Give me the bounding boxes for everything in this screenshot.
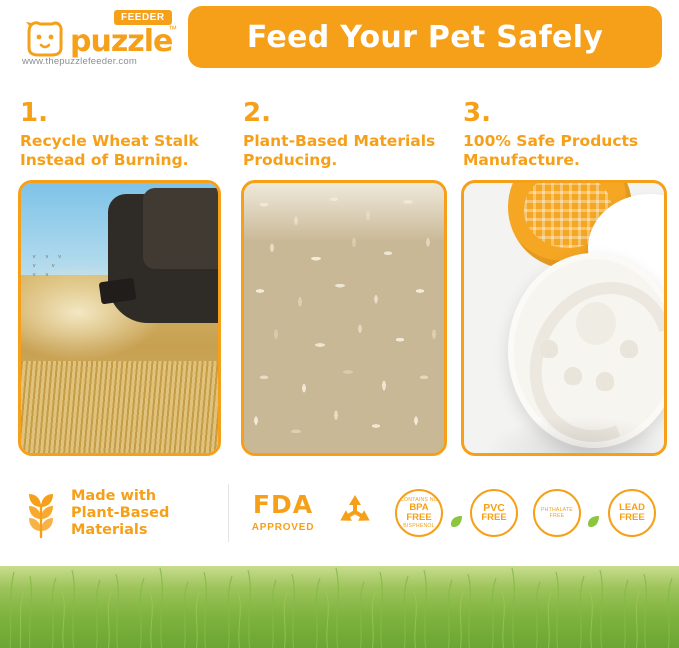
bpa-free-label: FREE	[406, 513, 431, 523]
step-1-photo: ᵛ ᵛ ᵛᵛ ᵛᵛ ᵛ	[18, 180, 221, 456]
step-2-number: 2.	[243, 98, 438, 128]
paw-bump-3	[596, 372, 614, 391]
bpa-tiny-bottom: BISPHENOL	[403, 523, 435, 529]
made-with-plant-based-materials: Made with Plant-Based Materials	[20, 482, 218, 544]
step-3-photo	[461, 180, 667, 456]
phthalate-free-badge: PHTHALATE FREE	[533, 489, 581, 537]
steps-section: 1. Recycle Wheat Stalk Instead of Burnin…	[0, 98, 679, 478]
paw-bump-4	[620, 340, 638, 359]
leaf-icon-phthalate	[586, 514, 601, 529]
made-with-text: Made with Plant-Based Materials	[71, 488, 169, 539]
made-with-line-3: Materials	[71, 522, 169, 539]
fda-approved-label: APPROVED	[248, 522, 318, 533]
step-1: 1. Recycle Wheat Stalk Instead of Burnin…	[18, 98, 215, 456]
pvc-free-label: FREE	[481, 513, 506, 523]
logo-trademark: ™	[168, 24, 177, 34]
badge-divider	[228, 484, 229, 542]
lead-free-label: FREE	[619, 513, 644, 523]
fda-approved-badge: FDA APPROVED	[248, 490, 318, 533]
recycle-icon	[333, 490, 377, 534]
page-title: Feed Your Pet Safely	[247, 20, 603, 55]
brand-logo: FEEDER puzzle ™ www.thepuzzlefeeder.com	[18, 8, 188, 68]
step-2-photo	[241, 180, 447, 456]
pvc-free-badge: PVC FREE	[470, 489, 518, 537]
infographic-page: FEEDER puzzle ™ www.thepuzzlefeeder.com …	[0, 0, 679, 648]
birds: ᵛ ᵛ ᵛᵛ ᵛᵛ ᵛ	[33, 253, 100, 307]
step-2: 2. Plant-Based Materials Producing.	[241, 98, 438, 456]
paw-bump-1	[540, 340, 558, 359]
dog-head-icon	[22, 18, 66, 58]
step-3: 3. 100% Safe Products Manufacture.	[461, 98, 658, 456]
phthalate-free-label: FREE	[550, 513, 565, 519]
step-3-title: 100% Safe Products Manufacture.	[463, 132, 673, 170]
logo-feeder-badge: FEEDER	[114, 10, 172, 25]
step-2-title: Plant-Based Materials Producing.	[243, 132, 453, 170]
step-3-number: 3.	[463, 98, 658, 128]
step-1-number: 1.	[20, 98, 215, 128]
lead-free-badge: LEAD FREE	[608, 489, 656, 537]
page-title-banner: Feed Your Pet Safely	[188, 6, 662, 68]
step-1-title: Recycle Wheat Stalk Instead of Burning.	[20, 132, 215, 170]
feeder-center	[576, 302, 616, 345]
made-with-line-2: Plant-Based	[71, 505, 169, 522]
header: FEEDER puzzle ™ www.thepuzzlefeeder.com …	[0, 0, 679, 80]
grass-blades	[0, 566, 679, 648]
wheat-icon	[20, 487, 62, 539]
logo-website-url: www.thepuzzlefeeder.com	[22, 56, 137, 67]
pellet-highlight	[244, 183, 444, 242]
product-shadow	[484, 415, 667, 456]
bpa-free-badge: CONTAINS NO BPA FREE BISPHENOL	[395, 489, 443, 537]
made-with-line-1: Made with	[71, 488, 169, 505]
grass-footer	[0, 566, 679, 648]
leaf-icon-bpa	[449, 514, 464, 529]
certification-badges: Made with Plant-Based Materials FDA APPR…	[0, 480, 679, 562]
logo-wordmark: puzzle	[70, 24, 172, 59]
cut-straw	[21, 361, 218, 453]
fda-label: FDA	[248, 490, 318, 519]
paw-bump-2	[564, 367, 582, 386]
harvester-cab	[143, 188, 221, 269]
